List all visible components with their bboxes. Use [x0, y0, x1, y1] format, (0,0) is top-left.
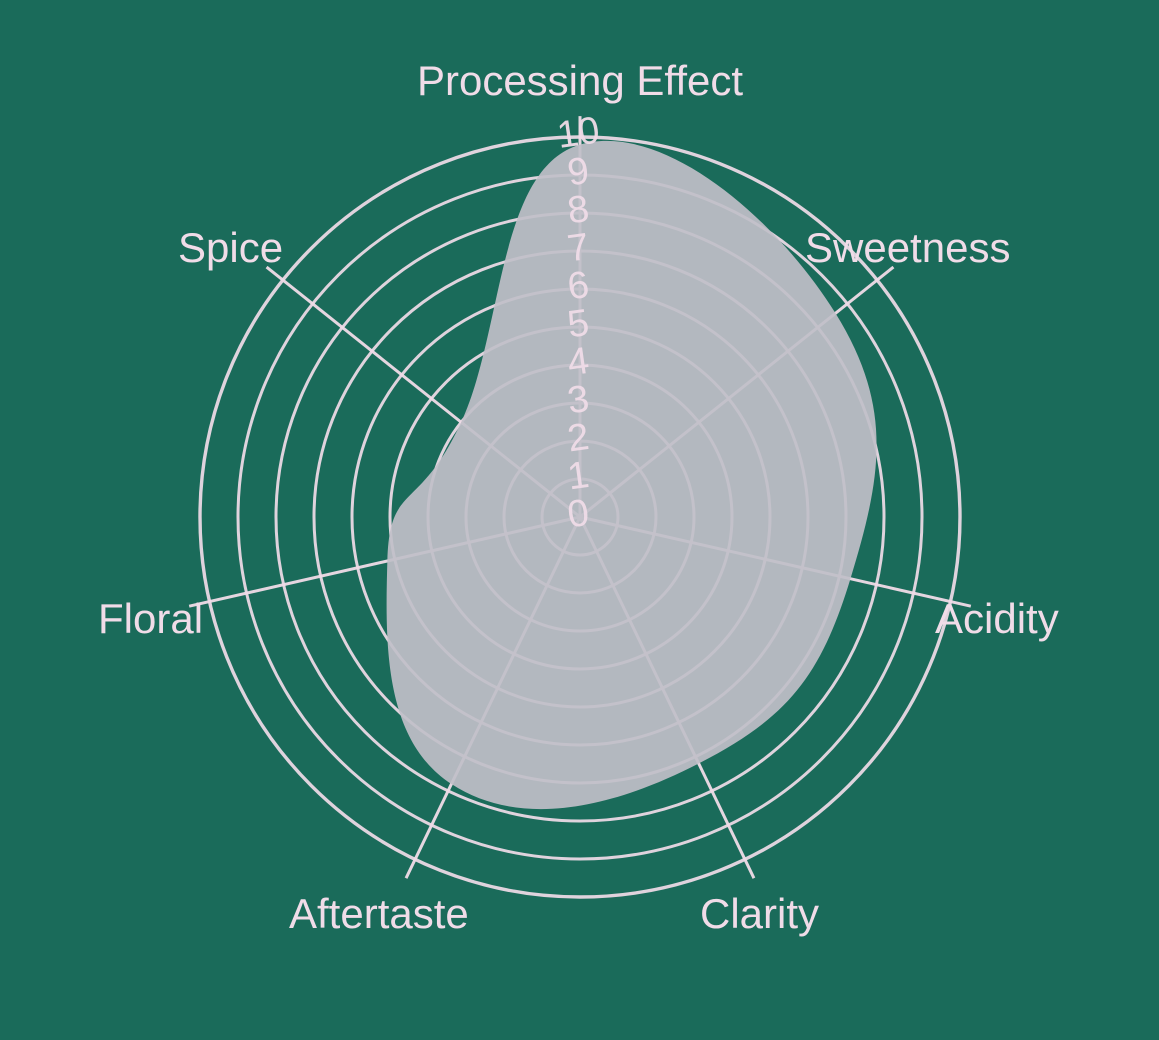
- radial-tick-10: 10: [554, 109, 602, 156]
- axis-label-floral: Floral: [98, 595, 203, 642]
- axis-label-sweetness: Sweetness: [805, 224, 1010, 271]
- axis-label-spice: Spice: [178, 224, 283, 271]
- radar-chart-page: 109876543210 Processing EffectSweetnessA…: [0, 0, 1159, 1040]
- axis-label-acidity: Acidity: [935, 595, 1059, 642]
- radar-chart: 109876543210 Processing EffectSweetnessA…: [0, 0, 1159, 1040]
- axis-label-clarity: Clarity: [700, 890, 819, 937]
- axis-label-aftertaste: Aftertaste: [289, 890, 469, 937]
- axis-label-processing-effect: Processing Effect: [417, 57, 743, 104]
